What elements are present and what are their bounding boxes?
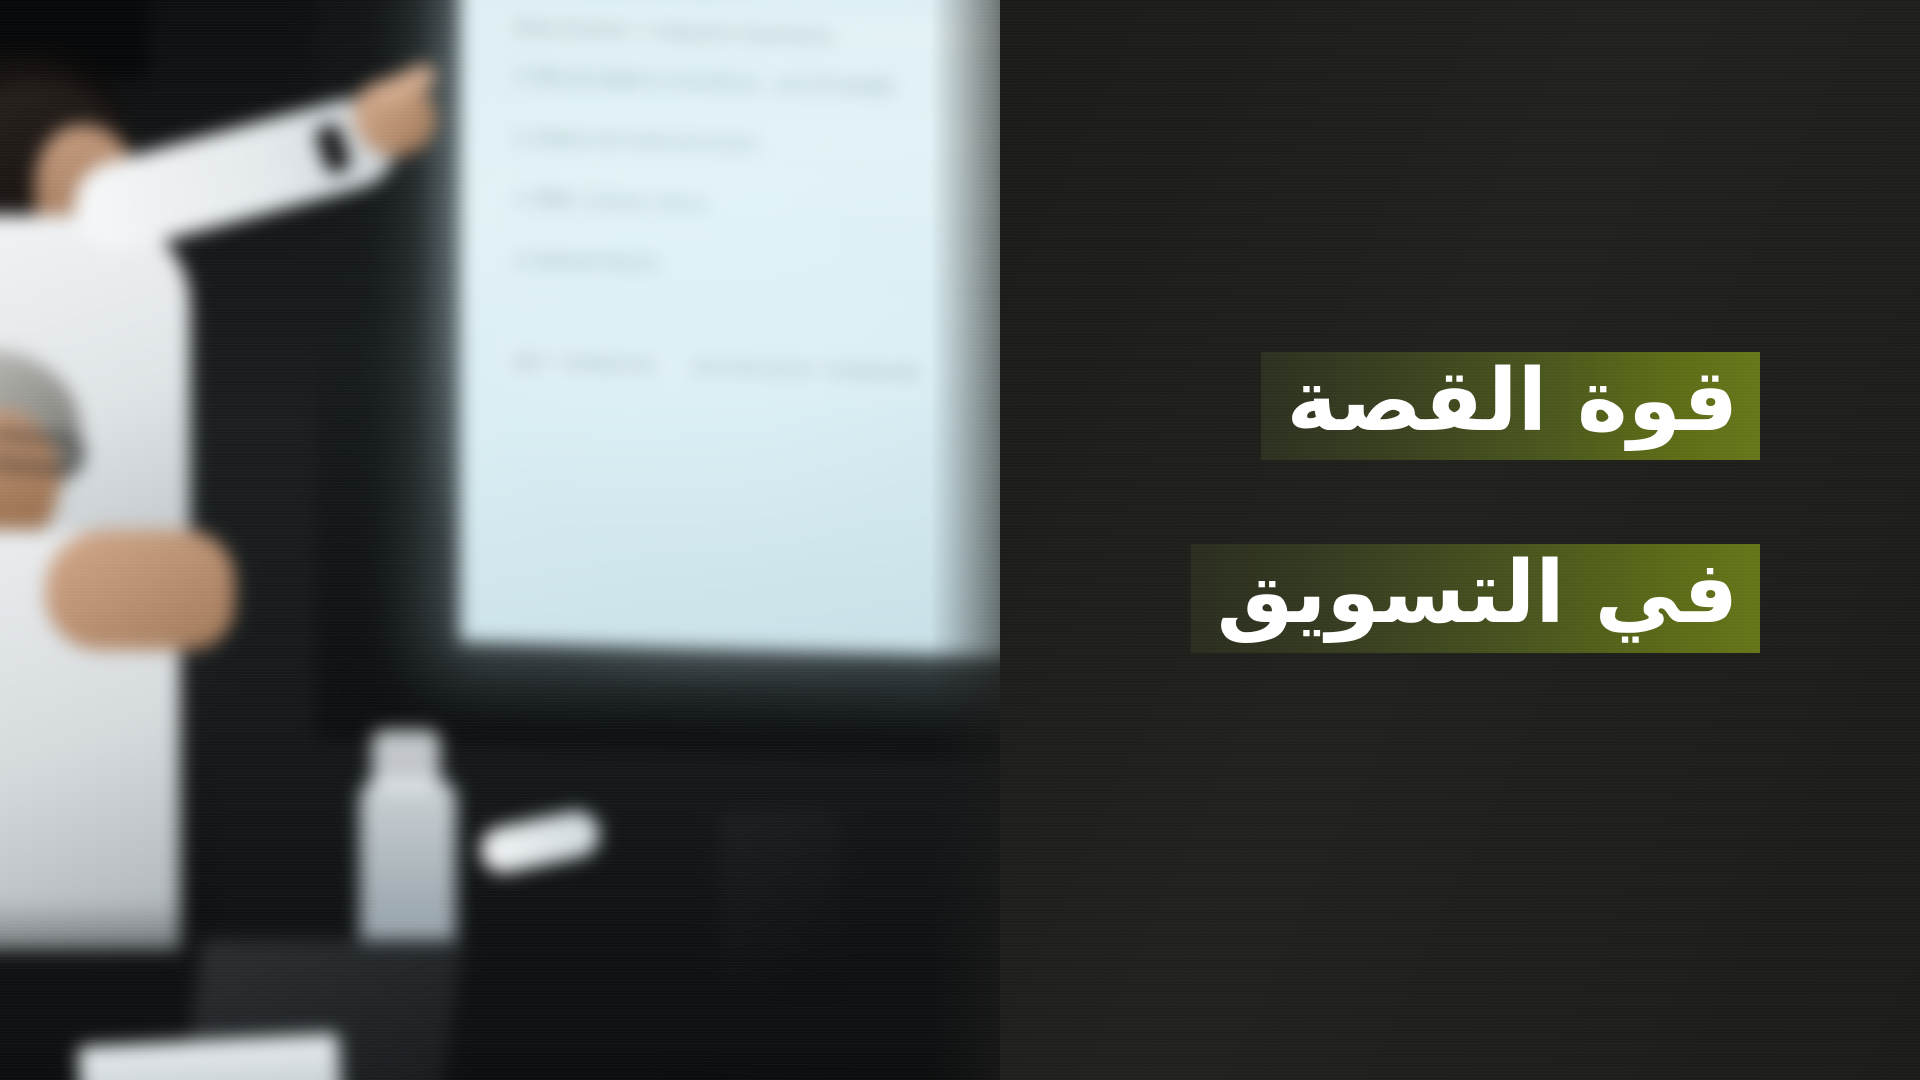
attendee-clasped-hands <box>45 530 235 650</box>
water-bottle-cap <box>372 730 440 790</box>
headline-line-1: قوة القصة <box>1261 352 1761 460</box>
slide-row: (-) Internal Position <box>500 242 1010 292</box>
attendee-glasses <box>0 431 84 473</box>
headline-panel: قوة القصة في التسويق <box>1000 0 1920 1080</box>
slide-row: (-) Did not adapt to consultancy – up to… <box>500 59 1010 109</box>
slide-row: (-) Interns not made permanent <box>500 120 1010 170</box>
slide-row: Gross Turnover + Integration Separations <box>500 10 1010 60</box>
slide-row: Actively Working at Integration <box>500 0 1010 10</box>
headline-block: قوة القصة في التسويق <box>1191 352 1760 653</box>
chair <box>720 810 840 1000</box>
projected-slide: Actively Working at Integration Gross Tu… <box>500 0 1010 423</box>
photo-blur-layer: Actively Working at Integration Gross Tu… <box>0 0 1010 1080</box>
slide-total-net-turnover: NET TURNOVER <box>500 345 671 384</box>
presentation-photo: Actively Working at Integration Gross Tu… <box>0 0 1010 1080</box>
headline-line-2: في التسويق <box>1191 544 1760 652</box>
slide-row: (-) MBA / License / Return <box>500 181 1010 231</box>
slide-total-unforeseen-turnover: UNFORESEEN TURNOVER <box>676 350 934 391</box>
banner-stage: Actively Working at Integration Gross Tu… <box>0 0 1920 1080</box>
